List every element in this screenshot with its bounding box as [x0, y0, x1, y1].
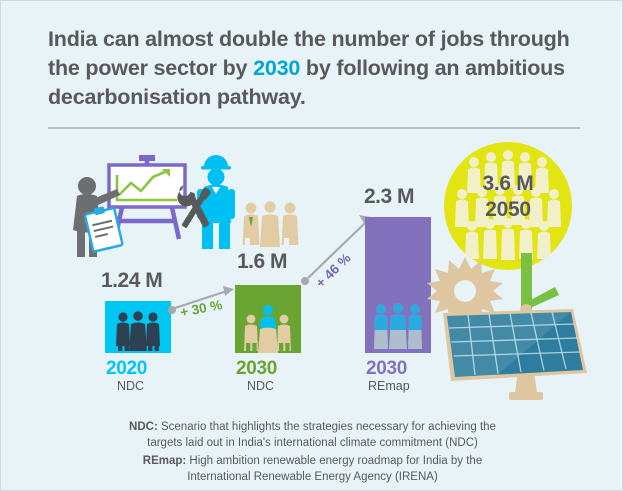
projection-year: 2050 — [444, 197, 572, 223]
renewables-illustration — [425, 253, 605, 408]
people-group-icon — [105, 301, 171, 353]
footnote-remap-text: High ambition renewable energy roadmap f… — [186, 455, 482, 483]
projection-circle-text: 3.6 M 2050 — [444, 171, 572, 223]
bar-2030-remap — [365, 217, 431, 353]
page-title: India can almost double the number of jo… — [48, 25, 588, 112]
footnote-remap: REmap: High ambition renewable energy ro… — [1, 454, 623, 485]
bar-year-2020: 2020 — [106, 358, 147, 380]
bar-2020-ndc — [105, 301, 171, 353]
projection-value: 3.6 M — [444, 171, 572, 197]
bar-year-2030-remap: 2030 — [366, 358, 407, 380]
bar-value-label-2030-remap: 2.3 M — [364, 185, 414, 209]
infographic-root: India can almost double the number of jo… — [0, 0, 623, 491]
bar-value-label-2020: 1.24 M — [101, 269, 162, 293]
bar-scenario-2020: NDC — [117, 379, 144, 393]
footnote-ndc-text: Scenario that highlights the strategies … — [147, 421, 496, 449]
footnote-remap-key: REmap: — [143, 455, 186, 467]
header-divider — [48, 127, 580, 129]
footnote-ndc: NDC: Scenario that highlights the strate… — [1, 420, 623, 451]
people-group-tan-icon — [237, 197, 303, 247]
bar-scenario-2030-remap: REmap — [368, 379, 410, 393]
bar-value-label-2030-ndc: 1.6 M — [237, 250, 287, 274]
highlight-person-icon — [260, 305, 276, 330]
bar-2030-ndc — [235, 285, 301, 353]
footnote-ndc-key: NDC: — [129, 421, 158, 433]
solar-panel-icon — [443, 309, 587, 381]
bar-year-2030-ndc: 2030 — [236, 358, 277, 380]
headline-highlight-year: 2030 — [253, 56, 300, 80]
bar-scenario-2030-ndc: NDC — [247, 379, 274, 393]
people-group-icon — [235, 285, 301, 353]
people-group-icon — [365, 217, 431, 353]
